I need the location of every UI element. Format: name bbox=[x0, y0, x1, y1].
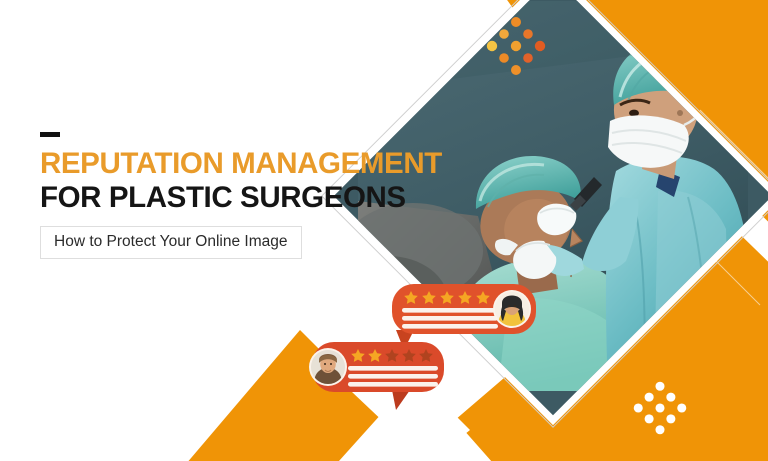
dot-diamond-top bbox=[484, 14, 548, 78]
review-text-lines-bottom bbox=[348, 366, 438, 387]
dot-diamond-bottom bbox=[631, 379, 689, 437]
review-bubble-bottom bbox=[309, 342, 444, 410]
subtitle-box: How to Protect Your Online Image bbox=[40, 226, 302, 259]
title-line-1: REPUTATION MANAGEMENT bbox=[40, 148, 420, 180]
subtitle-text: How to Protect Your Online Image bbox=[54, 233, 288, 250]
title-line-2: FOR PLASTIC SURGEONS bbox=[40, 181, 420, 214]
avatar-male bbox=[309, 348, 347, 386]
review-bubbles-group bbox=[296, 272, 542, 412]
review-text-lines-top bbox=[402, 308, 498, 329]
headline-block: REPUTATION MANAGEMENT FOR PLASTIC SURGEO… bbox=[40, 132, 420, 259]
avatar-female bbox=[493, 290, 531, 328]
review-bubble-top bbox=[392, 284, 536, 350]
banner-root: REPUTATION MANAGEMENT FOR PLASTIC SURGEO… bbox=[0, 0, 768, 461]
kicker-dash bbox=[40, 132, 60, 137]
